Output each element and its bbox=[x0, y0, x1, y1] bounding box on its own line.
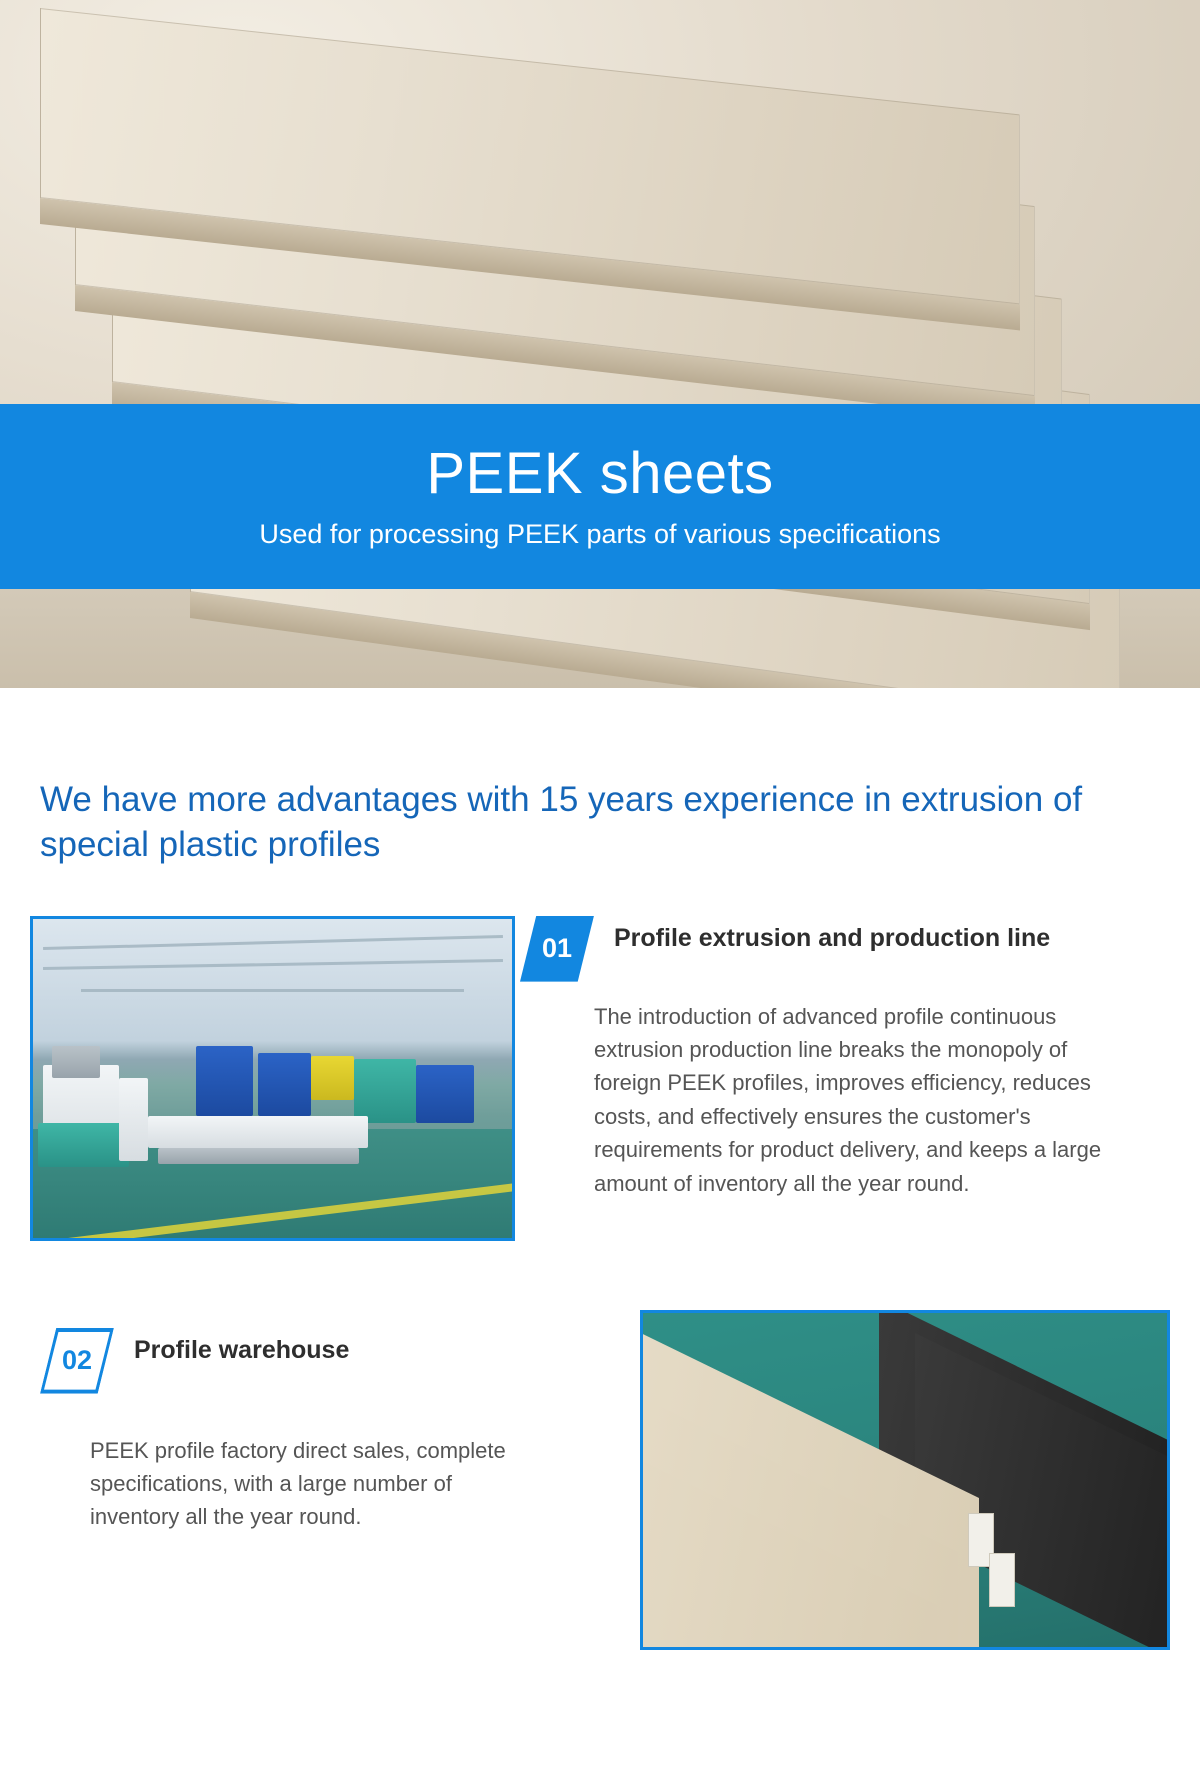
feature-1-text: 01 Profile extrusion and production line… bbox=[520, 916, 1170, 1201]
hero-banner: PEEK sheets Used for processing PEEK par… bbox=[0, 404, 1200, 589]
feature-row-1: 01 Profile extrusion and production line… bbox=[0, 916, 1200, 1276]
extrusion-production-line-photo bbox=[30, 916, 515, 1241]
profile-warehouse-sheets-photo bbox=[640, 1310, 1170, 1650]
feature-1-number: 01 bbox=[542, 933, 572, 964]
feature-2-title: Profile warehouse bbox=[134, 1328, 349, 1368]
hero-title: PEEK sheets bbox=[426, 445, 773, 503]
hero-subtitle: Used for processing PEEK parts of variou… bbox=[259, 521, 940, 548]
hero-section: PEEK sheets Used for processing PEEK par… bbox=[0, 0, 1200, 688]
feature-1-title: Profile extrusion and production line bbox=[614, 916, 1050, 956]
feature-1-number-badge: 01 bbox=[520, 916, 594, 982]
feature-2-body: PEEK profile factory direct sales, compl… bbox=[90, 1434, 530, 1534]
feature-row-2: 02 Profile warehouse PEEK profile factor… bbox=[0, 1310, 1200, 1680]
section-headline: We have more advantages with 15 years ex… bbox=[40, 778, 1160, 868]
feature-2-text: 02 Profile warehouse PEEK profile factor… bbox=[40, 1328, 510, 1534]
feature-2-number: 02 bbox=[62, 1345, 92, 1376]
feature-1-body: The introduction of advanced profile con… bbox=[594, 1000, 1110, 1201]
features-section: 01 Profile extrusion and production line… bbox=[0, 916, 1200, 1680]
sheet-label-tag bbox=[989, 1553, 1015, 1607]
feature-2-number-badge: 02 bbox=[40, 1328, 114, 1394]
